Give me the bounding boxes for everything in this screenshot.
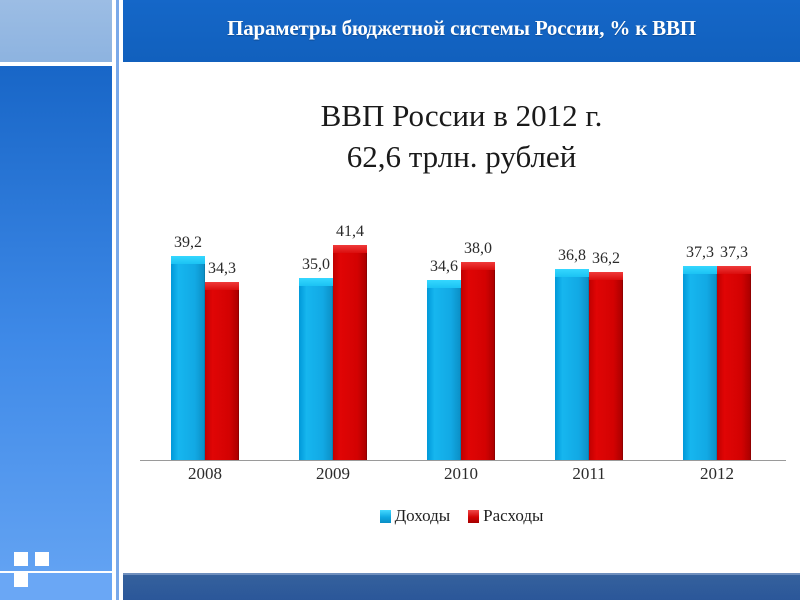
bar-revenue[interactable] [299, 278, 333, 460]
legend-swatch-icon [380, 510, 391, 523]
bar-value-label: 37,3 [704, 244, 764, 262]
bar-expenditure[interactable] [461, 262, 495, 460]
chart-title-line2: 62,6 трлн. рублей [123, 137, 800, 178]
bar-body [333, 253, 367, 460]
bar-body [589, 280, 623, 460]
page-title: Параметры бюджетной системы России, % к … [227, 16, 696, 41]
bar-body [205, 290, 239, 460]
bar-value-label: 34,3 [192, 260, 252, 278]
bar-expenditure[interactable] [205, 282, 239, 460]
legend-item-expenditure[interactable]: Расходы [468, 506, 543, 526]
bar-body [461, 270, 495, 460]
slide: Параметры бюджетной системы России, % к … [0, 0, 800, 600]
legend-item-revenue[interactable]: Доходы [380, 506, 451, 526]
decorative-square-3 [14, 573, 28, 587]
legend-label: Расходы [483, 506, 543, 526]
x-axis-label-2012: 2012 [672, 464, 762, 484]
bar-group: 37,337,3 [683, 226, 751, 460]
slide-footer-bar [123, 573, 800, 600]
slide-header: Параметры бюджетной системы России, % к … [123, 0, 800, 62]
bar-group: 36,836,2 [555, 226, 623, 460]
bar-body [717, 274, 751, 460]
bar-body [171, 264, 205, 460]
bar-revenue[interactable] [683, 266, 717, 460]
legend-label: Доходы [395, 506, 451, 526]
bar-value-label: 36,2 [576, 250, 636, 268]
bar-expenditure[interactable] [717, 266, 751, 460]
x-axis-label-2009: 2009 [288, 464, 378, 484]
sidebar-top-panel [0, 0, 112, 62]
x-axis-label-2011: 2011 [544, 464, 634, 484]
bar-body [683, 274, 717, 460]
bar-value-label: 38,0 [448, 240, 508, 258]
bar-value-label: 41,4 [320, 223, 380, 241]
bar-expenditure[interactable] [333, 245, 367, 460]
bar-expenditure[interactable] [589, 272, 623, 460]
bar-group: 34,638,0 [427, 226, 495, 460]
x-axis-label-2008: 2008 [160, 464, 250, 484]
chart-title: ВВП России в 2012 г. 62,6 трлн. рублей [123, 96, 800, 178]
sidebar-body-panel [0, 66, 112, 573]
bar-revenue[interactable] [427, 280, 461, 460]
bar-revenue[interactable] [171, 256, 205, 460]
decorative-square-2 [35, 552, 49, 566]
bar-body [555, 277, 589, 460]
bar-body [299, 286, 333, 460]
bar-value-label: 39,2 [158, 234, 218, 252]
bar-revenue[interactable] [555, 269, 589, 460]
slide-content: ВВП России в 2012 г. 62,6 трлн. рублей 3… [123, 66, 800, 571]
chart-legend: ДоходыРасходы [123, 506, 800, 526]
x-axis-line [140, 460, 786, 461]
bar-group: 35,041,4 [299, 226, 367, 460]
decorative-square-1 [14, 552, 28, 566]
chart-title-line1: ВВП России в 2012 г. [321, 98, 603, 133]
x-axis-tick-labels: 20082009201020112012 [133, 464, 793, 490]
bar-body [427, 288, 461, 460]
chart-plot-area: 39,234,335,041,434,638,036,836,237,337,3 [133, 226, 793, 461]
legend-swatch-icon [468, 510, 479, 523]
x-axis-label-2010: 2010 [416, 464, 506, 484]
bar-group: 39,234,3 [171, 226, 239, 460]
